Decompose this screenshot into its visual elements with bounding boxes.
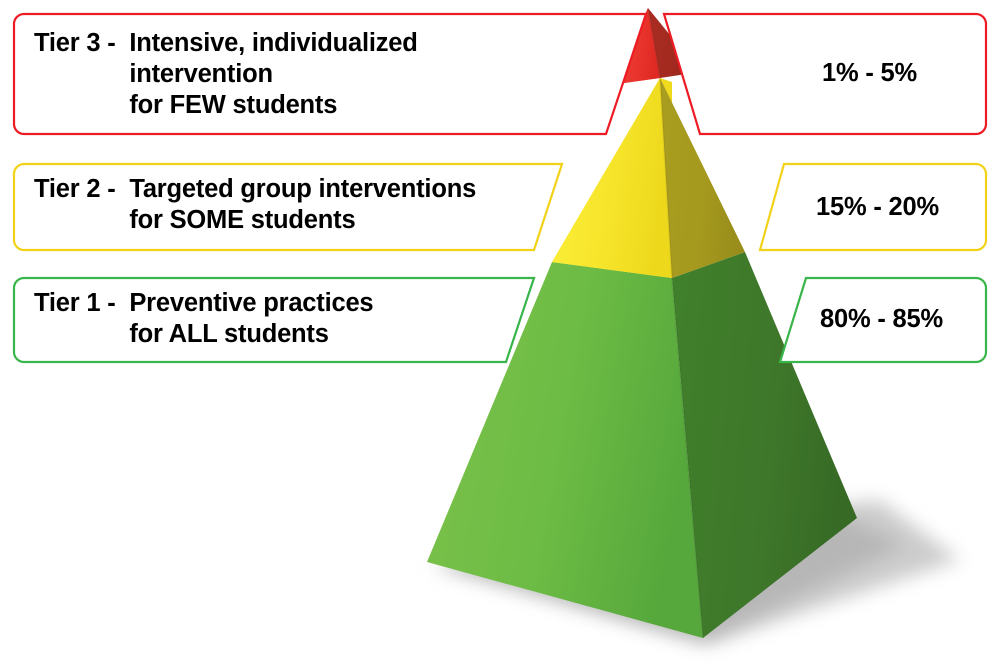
callout-tier-1-text: Tier 1 - Preventive practices Tier 1 - f… [34,288,373,350]
callout-tier-1[interactable]: Tier 1 - Preventive practices Tier 1 - f… [10,274,538,366]
percent-label-tier-2: 15% - 20% [816,192,939,223]
callout-percent-tier-3[interactable]: 1% - 5% [690,10,990,138]
percent-label-tier-1: 80% - 85% [820,304,943,335]
callout-percent-tier-2[interactable]: 15% - 20% [752,160,990,254]
callout-tier-3-text: Tier 3 - Intensive, individualized Tier … [34,28,418,121]
diagram-canvas: Tier 3 - Intensive, individualized Tier … [0,0,1000,672]
percent-label-tier-3: 1% - 5% [822,58,917,89]
callout-percent-tier-1[interactable]: 80% - 85% [772,274,990,366]
callout-tier-2[interactable]: Tier 2 - Targeted group interventions Ti… [10,160,566,254]
callout-tier-3[interactable]: Tier 3 - Intensive, individualized Tier … [10,10,650,138]
callout-tier-2-text: Tier 2 - Targeted group interventions Ti… [34,174,476,236]
